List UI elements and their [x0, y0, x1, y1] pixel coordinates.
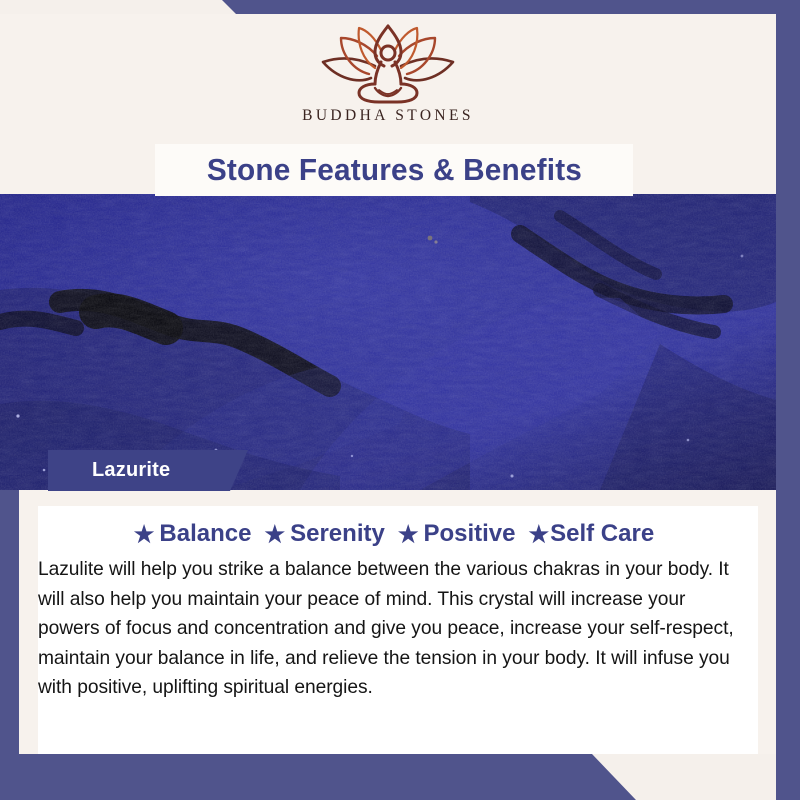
frame-left-bar — [0, 485, 19, 800]
stone-description: Lazulite will help you strike a balance … — [38, 555, 750, 703]
keyword-list: ★ Balance ★ Serenity ★ Positive ★ Self C… — [38, 520, 750, 548]
lazurite-rock-photo — [0, 194, 776, 490]
lotus-meditation-figure-icon — [313, 22, 463, 106]
star-icon: ★ — [529, 523, 550, 546]
star-icon: ★ — [398, 523, 419, 546]
keyword-item-self-care: ★ Self Care — [529, 520, 655, 548]
keyword-item-serenity: ★ Serenity — [264, 520, 397, 548]
frame-bottom-diagonal-bar — [0, 754, 800, 800]
brand-header: BUDDHA STONES — [0, 14, 776, 146]
frame-right-bar — [776, 0, 800, 800]
page-title: Stone Features & Benefits — [206, 152, 581, 188]
keyword-label: Self Care — [550, 520, 654, 548]
brand-name: BUDDHA STONES — [302, 107, 474, 125]
star-icon: ★ — [134, 523, 155, 546]
keyword-label: Serenity — [290, 520, 385, 548]
content-panel: ★ Balance ★ Serenity ★ Positive ★ Self C… — [38, 506, 758, 754]
keyword-label: Positive — [423, 520, 515, 548]
keyword-item-balance: ★ Balance — [134, 520, 265, 548]
star-icon: ★ — [264, 523, 285, 546]
title-banner: Stone Features & Benefits — [155, 144, 633, 196]
keyword-item-positive: ★ Positive — [398, 520, 529, 548]
keyword-label: Balance — [159, 520, 251, 548]
stone-name-band: Lazurite — [48, 450, 248, 491]
stone-name: Lazurite — [92, 459, 170, 482]
